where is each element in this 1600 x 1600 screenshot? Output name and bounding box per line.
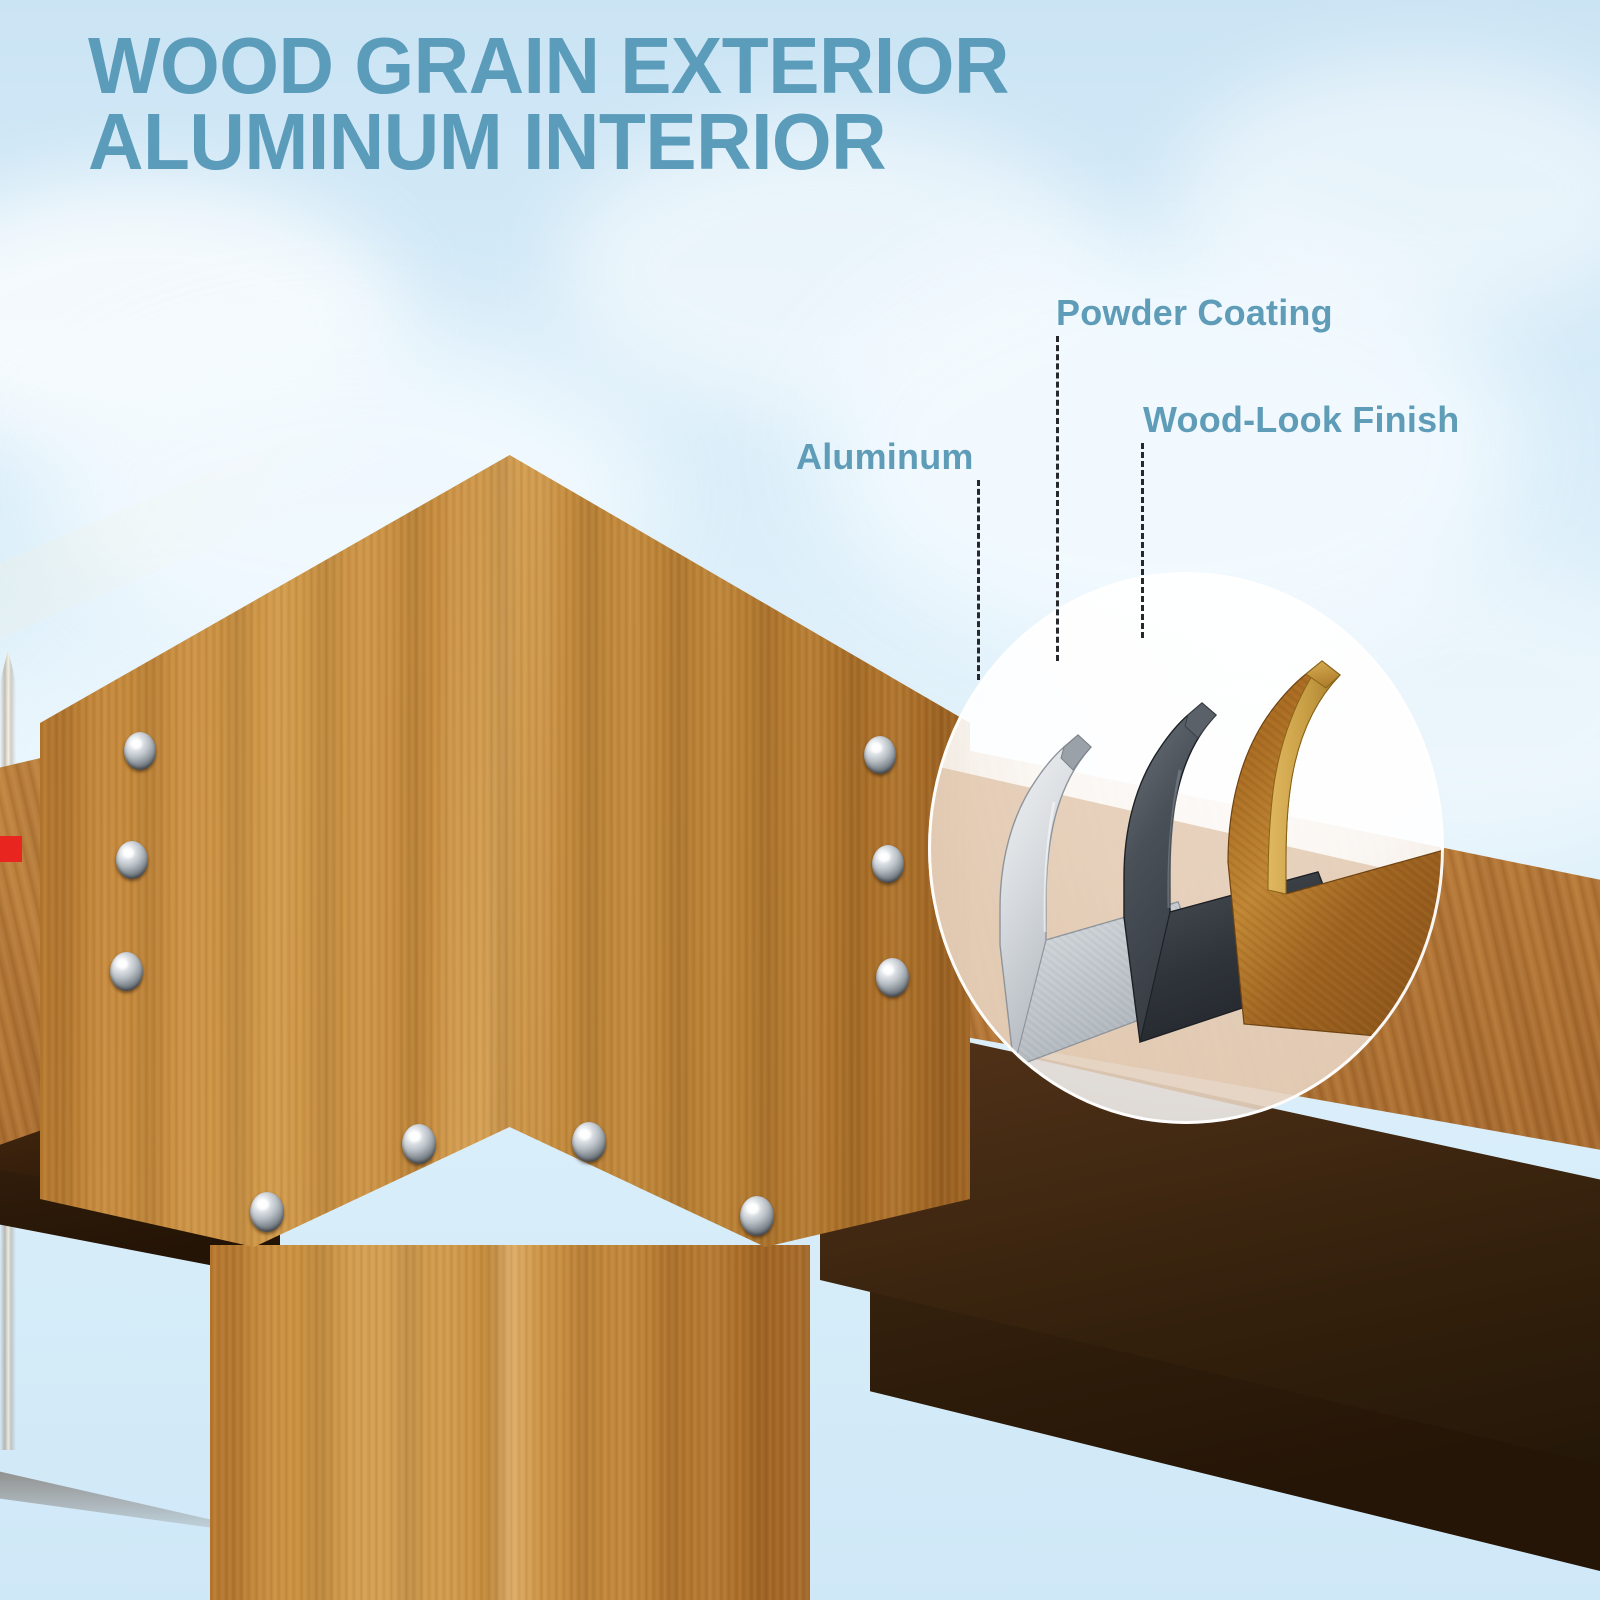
screw-head [572,1122,606,1162]
wood-look-finish-layer [1228,661,1444,1042]
callout-label-wood-look-finish: Wood-Look Finish [1143,400,1459,440]
title-line-1: WOOD GRAIN EXTERIOR [88,28,1009,104]
layer-diagram [928,572,1444,1124]
screw-head [116,841,148,879]
screw-head [876,958,909,997]
infographic-canvas: WOOD GRAIN EXTERIOR ALUMINUM INTERIOR [0,0,1600,1600]
screw-head [864,736,896,774]
screw-head [124,732,156,770]
screw-head [402,1124,436,1164]
title-line-2: ALUMINUM INTERIOR [88,104,1009,180]
cross-section-inset [928,572,1444,1124]
leader-line-aluminum [977,480,980,680]
red-marker-tag [0,836,22,862]
screw-head [250,1192,284,1232]
page-title: WOOD GRAIN EXTERIOR ALUMINUM INTERIOR [88,28,1047,180]
screw-head [740,1196,774,1236]
screw-head [110,952,143,991]
leader-line-powder-coating [1056,336,1059,661]
leader-line-wood-look-finish [1141,443,1144,638]
callout-label-aluminum: Aluminum [796,437,974,477]
vertical-post [210,1245,810,1600]
callout-label-powder-coating: Powder Coating [1056,293,1333,333]
screw-head [872,845,904,883]
wood-grain-texture [210,1245,810,1600]
